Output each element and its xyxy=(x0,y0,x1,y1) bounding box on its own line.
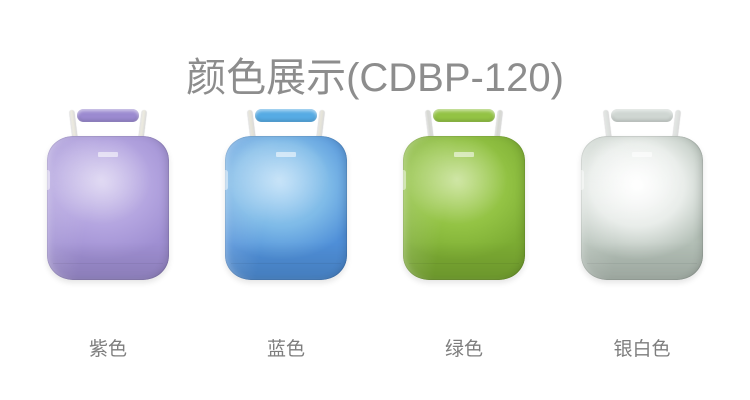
color-swatch-purple[interactable]: 紫色 xyxy=(19,108,197,368)
page-title: 颜色展示(CDBP-120) xyxy=(0,51,750,105)
handle-bar xyxy=(77,109,139,122)
case-edge xyxy=(581,136,703,280)
brand-logo-icon xyxy=(98,152,118,157)
case-hinge xyxy=(225,170,228,190)
product-image-purple xyxy=(47,108,169,280)
color-showcase-page: { "page": { "title": "颜色展示(CDBP-120)", "… xyxy=(0,0,750,400)
product-image-blue xyxy=(225,108,347,280)
case-edge xyxy=(47,136,169,280)
color-label: 银白色 xyxy=(553,338,731,362)
handle-bar xyxy=(611,109,673,122)
case-body xyxy=(403,136,525,280)
product-image-green xyxy=(403,108,525,280)
color-swatch-blue[interactable]: 蓝色 xyxy=(197,108,375,368)
case-hinge xyxy=(47,170,50,190)
brand-logo-icon xyxy=(276,152,296,157)
color-swatch-gallery: 紫色 蓝色 xyxy=(0,108,750,368)
case-seam xyxy=(53,263,163,264)
case-seam xyxy=(231,263,341,264)
case-edge xyxy=(225,136,347,280)
case-body xyxy=(581,136,703,280)
case-body xyxy=(225,136,347,280)
brand-logo-icon xyxy=(454,152,474,157)
case-seam xyxy=(409,263,519,264)
case-edge xyxy=(403,136,525,280)
handle-bar xyxy=(433,109,495,122)
color-label: 绿色 xyxy=(375,338,553,362)
case-seam xyxy=(587,263,697,264)
color-swatch-silver-white[interactable]: 银白色 xyxy=(553,108,731,368)
product-image-silver-white xyxy=(581,108,703,280)
case-hinge xyxy=(403,170,406,190)
color-swatch-green[interactable]: 绿色 xyxy=(375,108,553,368)
case-hinge xyxy=(581,170,584,190)
handle-bar xyxy=(255,109,317,122)
color-label: 紫色 xyxy=(19,338,197,362)
brand-logo-icon xyxy=(632,152,652,157)
case-body xyxy=(47,136,169,280)
color-label: 蓝色 xyxy=(197,338,375,362)
